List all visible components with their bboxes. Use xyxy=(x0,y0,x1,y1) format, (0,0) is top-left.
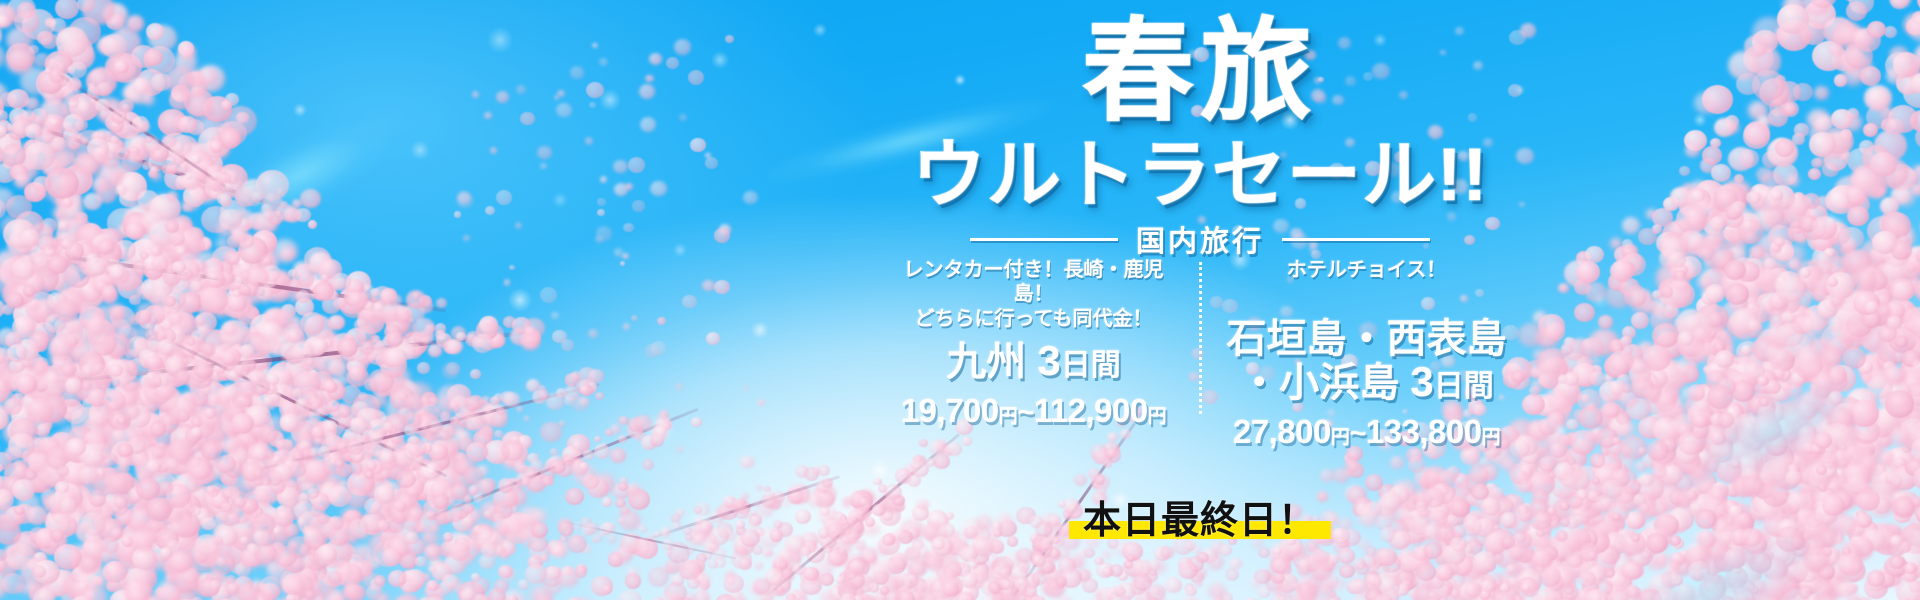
sakura-blossom xyxy=(401,331,428,356)
sakura-blossom xyxy=(233,456,253,474)
sakura-blossom xyxy=(91,363,108,378)
sakura-blossom xyxy=(485,206,495,216)
sakura-blossom xyxy=(1889,46,1909,64)
sakura-blossom xyxy=(221,100,232,110)
sakura-blossom xyxy=(1703,457,1720,473)
sakura-blossom xyxy=(1835,435,1865,462)
sakura-blossom xyxy=(227,294,247,312)
sakura-blossom xyxy=(394,422,403,430)
sakura-blossom xyxy=(323,455,331,462)
sakura-blossom xyxy=(89,330,117,356)
sakura-blossom xyxy=(173,348,200,373)
sakura-blossom xyxy=(402,462,431,488)
sakura-blossom xyxy=(0,334,1,351)
sakura-blossom xyxy=(1649,385,1668,402)
sakura-blossom xyxy=(303,525,314,535)
sakura-blossom xyxy=(1696,193,1720,215)
sakura-blossom xyxy=(1706,496,1730,518)
sakura-blossom xyxy=(166,268,184,284)
sakura-blossom xyxy=(1834,397,1864,424)
sakura-blossom xyxy=(20,557,54,588)
sakura-blossom xyxy=(204,439,220,453)
sakura-blossom xyxy=(354,319,368,332)
sakura-blossom xyxy=(531,509,547,523)
sakura-blossom xyxy=(520,332,541,351)
sakura-blossom xyxy=(1644,520,1667,541)
sakura-blossom xyxy=(625,573,642,589)
sakura-blossom xyxy=(1888,105,1918,133)
sakura-blossom xyxy=(392,381,420,407)
sakura-blossom xyxy=(580,386,589,394)
sakura-blossom xyxy=(230,398,242,409)
sakura-blossom xyxy=(63,128,78,142)
sakura-blossom xyxy=(1666,251,1692,275)
sakura-blossom xyxy=(1851,48,1863,59)
sakura-blossom xyxy=(1718,460,1730,471)
sakura-blossom xyxy=(305,529,320,543)
sakura-blossom xyxy=(1732,446,1757,469)
sakura-blossom xyxy=(432,440,449,455)
sakura-blossom xyxy=(118,325,138,343)
sakura-blossom xyxy=(336,565,353,581)
sakura-blossom xyxy=(283,369,300,385)
sakura-blossom xyxy=(1654,346,1668,359)
sakura-blossom xyxy=(156,263,166,273)
sakura-blossom xyxy=(95,336,117,357)
sakura-blossom xyxy=(287,316,302,330)
sakura-blossom xyxy=(582,545,591,553)
sakura-blossom xyxy=(1870,370,1887,386)
sakura-blossom xyxy=(1769,310,1788,328)
sakura-blossom xyxy=(1839,459,1869,487)
sakura-blossom xyxy=(0,452,12,471)
sakura-blossom xyxy=(206,485,216,494)
sakura-blossom xyxy=(183,159,196,171)
sakura-blossom xyxy=(1711,164,1731,182)
sakura-blossom xyxy=(1890,311,1903,323)
sakura-blossom xyxy=(133,565,157,587)
sakura-blossom xyxy=(59,400,75,415)
sakura-blossom xyxy=(302,336,317,350)
sakura-blossom xyxy=(136,121,148,132)
sakura-blossom xyxy=(1752,208,1776,230)
sakura-blossom xyxy=(450,483,468,499)
sakura-blossom xyxy=(1732,582,1746,595)
sakura-blossom xyxy=(24,115,44,133)
sakura-blossom xyxy=(1727,504,1755,530)
sakura-blossom xyxy=(1859,461,1873,473)
sakura-blossom xyxy=(1725,540,1748,562)
sakura-blossom xyxy=(446,362,460,375)
sakura-blossom xyxy=(1882,381,1912,409)
sakura-blossom xyxy=(1772,573,1793,592)
sakura-blossom xyxy=(83,262,99,277)
sakura-blossom xyxy=(311,551,321,561)
sakura-blossom xyxy=(420,404,439,422)
sakura-blossom xyxy=(95,468,105,477)
sakura-blossom xyxy=(419,300,432,312)
sakura-blossom xyxy=(1779,420,1789,429)
sakura-blossom xyxy=(27,533,44,549)
sakura-blossom xyxy=(102,485,128,509)
sakura-blossom xyxy=(189,399,211,419)
sakura-blossom xyxy=(1856,281,1874,297)
sakura-blossom xyxy=(305,590,315,599)
sakura-blossom xyxy=(140,551,150,560)
sakura-blossom xyxy=(1809,364,1834,387)
sakura-blossom xyxy=(313,339,327,352)
sakura-blossom xyxy=(517,435,532,449)
sakura-blossom xyxy=(107,208,140,238)
sakura-blossom xyxy=(323,278,338,292)
sakura-blossom xyxy=(242,421,271,448)
sakura-blossom xyxy=(1873,188,1884,198)
sakura-blossom xyxy=(209,294,233,317)
sakura-blossom xyxy=(0,490,11,501)
sakura-blossom xyxy=(94,308,104,317)
sakura-blossom xyxy=(1772,268,1789,284)
sakura-blossom xyxy=(1724,527,1734,536)
sakura-blossom xyxy=(494,393,503,401)
sakura-blossom xyxy=(194,352,210,366)
sakura-blossom xyxy=(1705,311,1722,327)
sakura-blossom xyxy=(103,564,119,579)
sakura-blossom xyxy=(234,407,260,431)
sakura-blossom xyxy=(137,190,159,210)
sakura-blossom xyxy=(1853,170,1875,190)
sakura-blossom xyxy=(1661,571,1679,588)
sakura-blossom xyxy=(45,51,73,76)
sakura-blossom xyxy=(410,452,425,465)
sakura-blossom xyxy=(216,401,235,419)
sakura-blossom xyxy=(15,317,34,334)
sakura-blossom xyxy=(51,137,67,152)
sakura-blossom xyxy=(586,82,604,98)
sakura-blossom xyxy=(507,504,518,514)
sakura-blossom xyxy=(0,506,22,531)
sakura-blossom xyxy=(0,141,3,170)
sakura-blossom xyxy=(1742,258,1766,280)
sakura-blossom xyxy=(333,277,346,289)
sakura-blossom xyxy=(304,315,333,342)
sakura-blossom xyxy=(244,461,265,480)
sakura-blossom xyxy=(226,179,246,198)
sakura-blossom xyxy=(73,300,87,313)
sakura-blossom xyxy=(480,333,499,350)
sakura-blossom xyxy=(425,432,434,440)
sakura-blossom xyxy=(249,328,259,338)
sakura-blossom xyxy=(618,435,627,443)
sakura-blossom xyxy=(1710,347,1735,370)
sakura-blossom xyxy=(209,365,226,381)
sakura-blossom xyxy=(356,408,379,429)
sakura-blossom xyxy=(636,538,658,559)
sakura-blossom xyxy=(124,410,158,441)
sakura-blossom xyxy=(1727,239,1746,257)
sakura-blossom xyxy=(264,383,290,407)
sakura-blossom xyxy=(1734,430,1761,455)
sakura-blossom xyxy=(625,183,633,190)
sakura-blossom xyxy=(115,508,133,524)
sakura-blossom xyxy=(248,290,263,304)
sakura-blossom xyxy=(393,343,404,353)
sakura-blossom xyxy=(63,319,89,343)
sakura-blossom xyxy=(1788,194,1812,216)
sakura-blossom xyxy=(357,309,385,334)
sakura-blossom xyxy=(1832,490,1853,510)
sakura-blossom xyxy=(191,239,206,253)
sakura-blossom xyxy=(173,517,192,535)
sakura-blossom xyxy=(27,398,55,423)
sakura-blossom xyxy=(163,320,172,328)
sakura-blossom xyxy=(1680,230,1703,251)
sakura-blossom xyxy=(386,331,403,347)
sakura-blossom xyxy=(149,266,178,293)
sakura-blossom xyxy=(285,358,309,380)
sakura-blossom xyxy=(383,538,406,559)
sakura-blossom xyxy=(124,388,135,398)
sakura-blossom xyxy=(200,508,215,521)
sakura-blossom xyxy=(132,547,158,571)
sakura-blossom xyxy=(94,129,112,146)
sakura-blossom xyxy=(165,559,187,579)
sakura-blossom xyxy=(325,432,337,443)
sakura-blossom xyxy=(463,235,470,241)
sakura-blossom xyxy=(340,566,352,577)
sakura-blossom xyxy=(1816,419,1844,445)
sakura-blossom xyxy=(32,361,49,376)
sakura-blossom xyxy=(618,482,628,491)
sakura-blossom xyxy=(149,194,179,222)
sakura-blossom xyxy=(88,263,107,280)
sakura-blossom xyxy=(58,78,67,87)
sakura-blossom xyxy=(120,482,144,504)
sakura-blossom xyxy=(281,477,301,495)
sakura-blossom xyxy=(427,463,452,486)
sakura-blossom xyxy=(180,500,200,518)
sakura-blossom xyxy=(72,242,100,268)
sakura-blossom xyxy=(346,366,369,388)
sakura-blossom xyxy=(1791,504,1817,528)
sakura-blossom xyxy=(491,411,509,427)
sakura-blossom xyxy=(119,383,143,405)
sakura-blossom xyxy=(32,299,59,324)
sakura-blossom xyxy=(1776,419,1796,437)
sakura-blossom xyxy=(0,356,23,385)
sakura-blossom xyxy=(470,369,481,379)
sakura-blossom xyxy=(170,427,196,451)
sakura-blossom xyxy=(276,327,288,338)
sakura-blossom xyxy=(378,481,403,504)
sakura-blossom xyxy=(114,463,127,475)
sakura-blossom xyxy=(218,426,229,436)
sakura-blossom xyxy=(164,167,189,190)
sakura-blossom xyxy=(50,75,74,97)
sakura-blossom xyxy=(1719,258,1737,274)
sakura-blossom xyxy=(114,60,129,74)
sakura-blossom xyxy=(501,568,515,581)
sakura-blossom xyxy=(0,381,9,403)
sakura-blossom xyxy=(356,422,364,430)
sakura-blossom xyxy=(200,416,222,436)
sakura-blossom xyxy=(132,116,150,132)
sakura-blossom xyxy=(318,446,330,457)
sakura-blossom xyxy=(474,594,488,600)
sakura-blossom xyxy=(1812,525,1838,549)
sakura-blossom xyxy=(226,513,240,526)
sakura-blossom xyxy=(195,163,228,193)
sakura-blossom xyxy=(86,496,111,519)
sakura-blossom xyxy=(540,287,557,302)
sakura-blossom xyxy=(1658,486,1686,511)
sakura-blossom xyxy=(1694,398,1710,413)
sakura-blossom xyxy=(117,393,128,403)
sakura-blossom xyxy=(1765,434,1789,456)
sakura-blossom xyxy=(141,211,163,232)
sakura-blossom xyxy=(2,573,24,594)
sakura-blossom xyxy=(198,127,231,157)
sakura-blossom xyxy=(203,284,218,298)
sakura-blossom xyxy=(203,258,224,277)
sakura-blossom xyxy=(564,396,575,406)
sakura-blossom xyxy=(54,61,66,72)
sakura-blossom xyxy=(228,447,248,466)
sakura-blossom xyxy=(387,454,400,466)
sakura-blossom xyxy=(348,292,367,310)
sakura-blossom xyxy=(140,249,167,274)
sakura-blossom xyxy=(174,335,206,364)
sakura-blossom xyxy=(185,428,202,443)
sakura-blossom xyxy=(1713,188,1739,211)
sakura-blossom xyxy=(96,469,107,479)
sakura-blossom xyxy=(1898,541,1911,553)
sakura-blossom xyxy=(178,72,208,100)
sakura-blossom xyxy=(1702,236,1720,252)
sakura-blossom xyxy=(1909,283,1920,293)
sakura-blossom xyxy=(286,328,305,346)
sakura-blossom xyxy=(27,355,39,366)
sakura-blossom xyxy=(180,526,198,542)
sakura-blossom xyxy=(64,262,79,276)
sakura-blossom xyxy=(1741,422,1762,441)
sakura-blossom xyxy=(0,299,5,318)
sakura-blossom xyxy=(1712,590,1726,600)
sakura-blossom xyxy=(212,536,223,546)
sakura-blossom xyxy=(68,217,91,238)
sakura-blossom xyxy=(1853,333,1865,344)
sakura-blossom xyxy=(1726,576,1744,592)
sakura-blossom xyxy=(39,99,69,127)
sakura-blossom xyxy=(282,576,305,597)
sakura-blossom xyxy=(87,450,105,467)
sakura-blossom xyxy=(253,387,264,397)
sakura-blossom xyxy=(1896,301,1915,318)
sakura-blossom xyxy=(436,333,452,348)
sakura-blossom xyxy=(69,62,87,79)
sakura-blossom xyxy=(385,437,396,448)
sakura-blossom xyxy=(1775,139,1794,157)
sakura-blossom xyxy=(347,440,363,455)
sakura-blossom xyxy=(281,355,292,365)
sakura-blossom xyxy=(1803,0,1830,16)
sakura-blossom xyxy=(172,261,186,274)
sakura-blossom xyxy=(508,488,527,506)
sakura-blossom xyxy=(528,555,543,569)
sakura-blossom xyxy=(85,540,101,555)
sakura-blossom xyxy=(439,581,453,594)
sakura-blossom xyxy=(54,329,74,348)
sakura-blossom xyxy=(1880,294,1910,321)
sakura-blossom xyxy=(540,163,547,169)
sakura-blossom xyxy=(165,572,177,583)
sakura-blossom xyxy=(1738,466,1753,480)
sakura-blossom xyxy=(90,96,100,105)
sakura-blossom xyxy=(1674,264,1688,277)
sakura-blossom xyxy=(1764,252,1788,274)
sakura-blossom xyxy=(239,284,251,295)
sakura-blossom xyxy=(1824,423,1849,446)
sakura-blossom xyxy=(206,140,218,151)
sakura-blossom xyxy=(409,435,420,445)
sakura-blossom xyxy=(242,185,265,206)
sakura-blossom xyxy=(6,43,35,69)
sakura-blossom xyxy=(196,447,215,464)
sakura-blossom xyxy=(1809,448,1841,478)
sakura-blossom xyxy=(167,439,194,464)
sakura-blossom xyxy=(1738,371,1757,389)
sakura-blossom xyxy=(187,69,203,84)
sakura-blossom xyxy=(1896,579,1920,600)
sakura-blossom xyxy=(1810,422,1838,448)
sakura-blossom xyxy=(1693,199,1721,225)
sakura-blossom xyxy=(236,424,257,444)
sakura-blossom xyxy=(403,477,424,496)
sakura-blossom xyxy=(302,556,314,567)
sakura-blossom xyxy=(186,271,201,285)
sakura-blossom xyxy=(1909,339,1920,360)
sakura-blossom xyxy=(1720,402,1744,425)
sakura-blossom xyxy=(91,131,104,143)
sakura-blossom xyxy=(248,502,275,527)
sakura-blossom xyxy=(173,349,192,366)
sakura-blossom xyxy=(283,323,304,342)
sakura-blossom xyxy=(290,446,310,464)
sakura-blossom xyxy=(400,474,423,495)
sakura-blossom xyxy=(321,417,344,438)
sakura-blossom xyxy=(159,462,170,472)
sakura-blossom xyxy=(1703,216,1724,235)
sakura-blossom xyxy=(408,539,425,555)
sakura-blossom xyxy=(0,379,6,394)
sakura-blossom xyxy=(94,514,114,532)
sakura-blossom xyxy=(116,416,126,425)
sakura-blossom xyxy=(549,459,565,474)
sakura-blossom xyxy=(496,542,511,556)
sakura-blossom xyxy=(251,415,264,427)
sakura-blossom xyxy=(1878,450,1895,465)
sakura-blossom xyxy=(44,513,55,524)
sakura-blossom xyxy=(1707,352,1729,372)
sakura-blossom xyxy=(68,547,87,565)
sakura-blossom xyxy=(174,229,203,256)
sakura-blossom xyxy=(1695,488,1706,498)
sakura-blossom xyxy=(337,441,359,461)
sakura-blossom xyxy=(1914,500,1920,510)
sakura-blossom xyxy=(199,381,226,406)
sakura-blossom xyxy=(162,164,172,173)
sakura-blossom xyxy=(205,178,226,198)
sakura-blossom xyxy=(1761,491,1785,514)
